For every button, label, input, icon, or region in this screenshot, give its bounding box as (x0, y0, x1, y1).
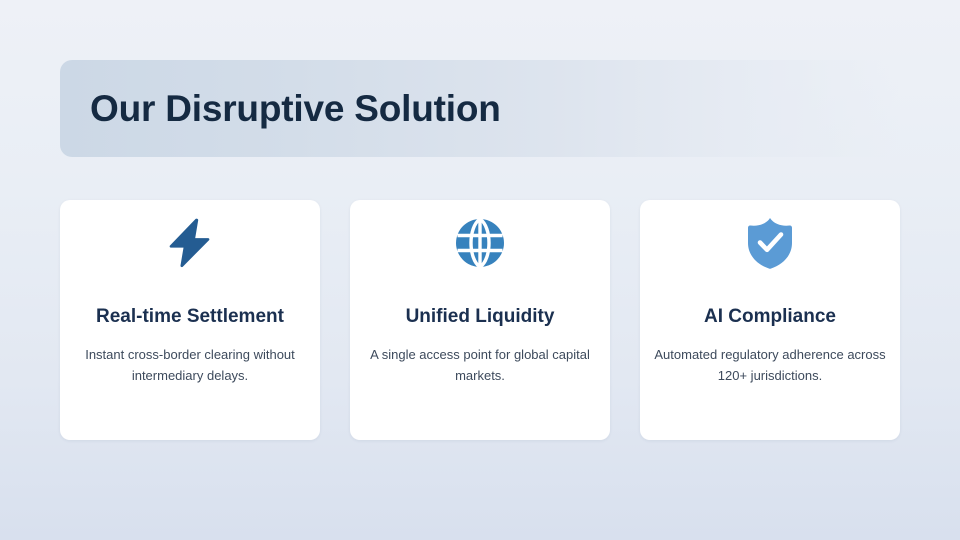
feature-card-ai-compliance[interactable]: AI Compliance Automated regulatory adher… (640, 200, 900, 440)
card-title: AI Compliance (704, 307, 836, 328)
card-title: Real-time Settlement (96, 307, 284, 328)
globe-icon (452, 215, 508, 271)
card-title: Unified Liquidity (406, 307, 555, 328)
card-description: Instant cross-border clearing without in… (60, 344, 320, 386)
shield-check-icon (742, 215, 798, 271)
feature-card-real-time-settlement[interactable]: Real-time Settlement Instant cross-borde… (60, 200, 320, 440)
slide-root: Our Disruptive Solution Real-time Settle… (0, 0, 960, 540)
card-description: A single access point for global capital… (350, 344, 610, 386)
feature-card-unified-liquidity[interactable]: Unified Liquidity A single access point … (350, 200, 610, 440)
card-description: Automated regulatory adherence across 12… (640, 344, 900, 386)
page-title: Our Disruptive Solution (90, 88, 501, 130)
lightning-bolt-icon (162, 215, 218, 271)
header-banner: Our Disruptive Solution (60, 60, 900, 157)
feature-cards-row: Real-time Settlement Instant cross-borde… (60, 200, 900, 440)
